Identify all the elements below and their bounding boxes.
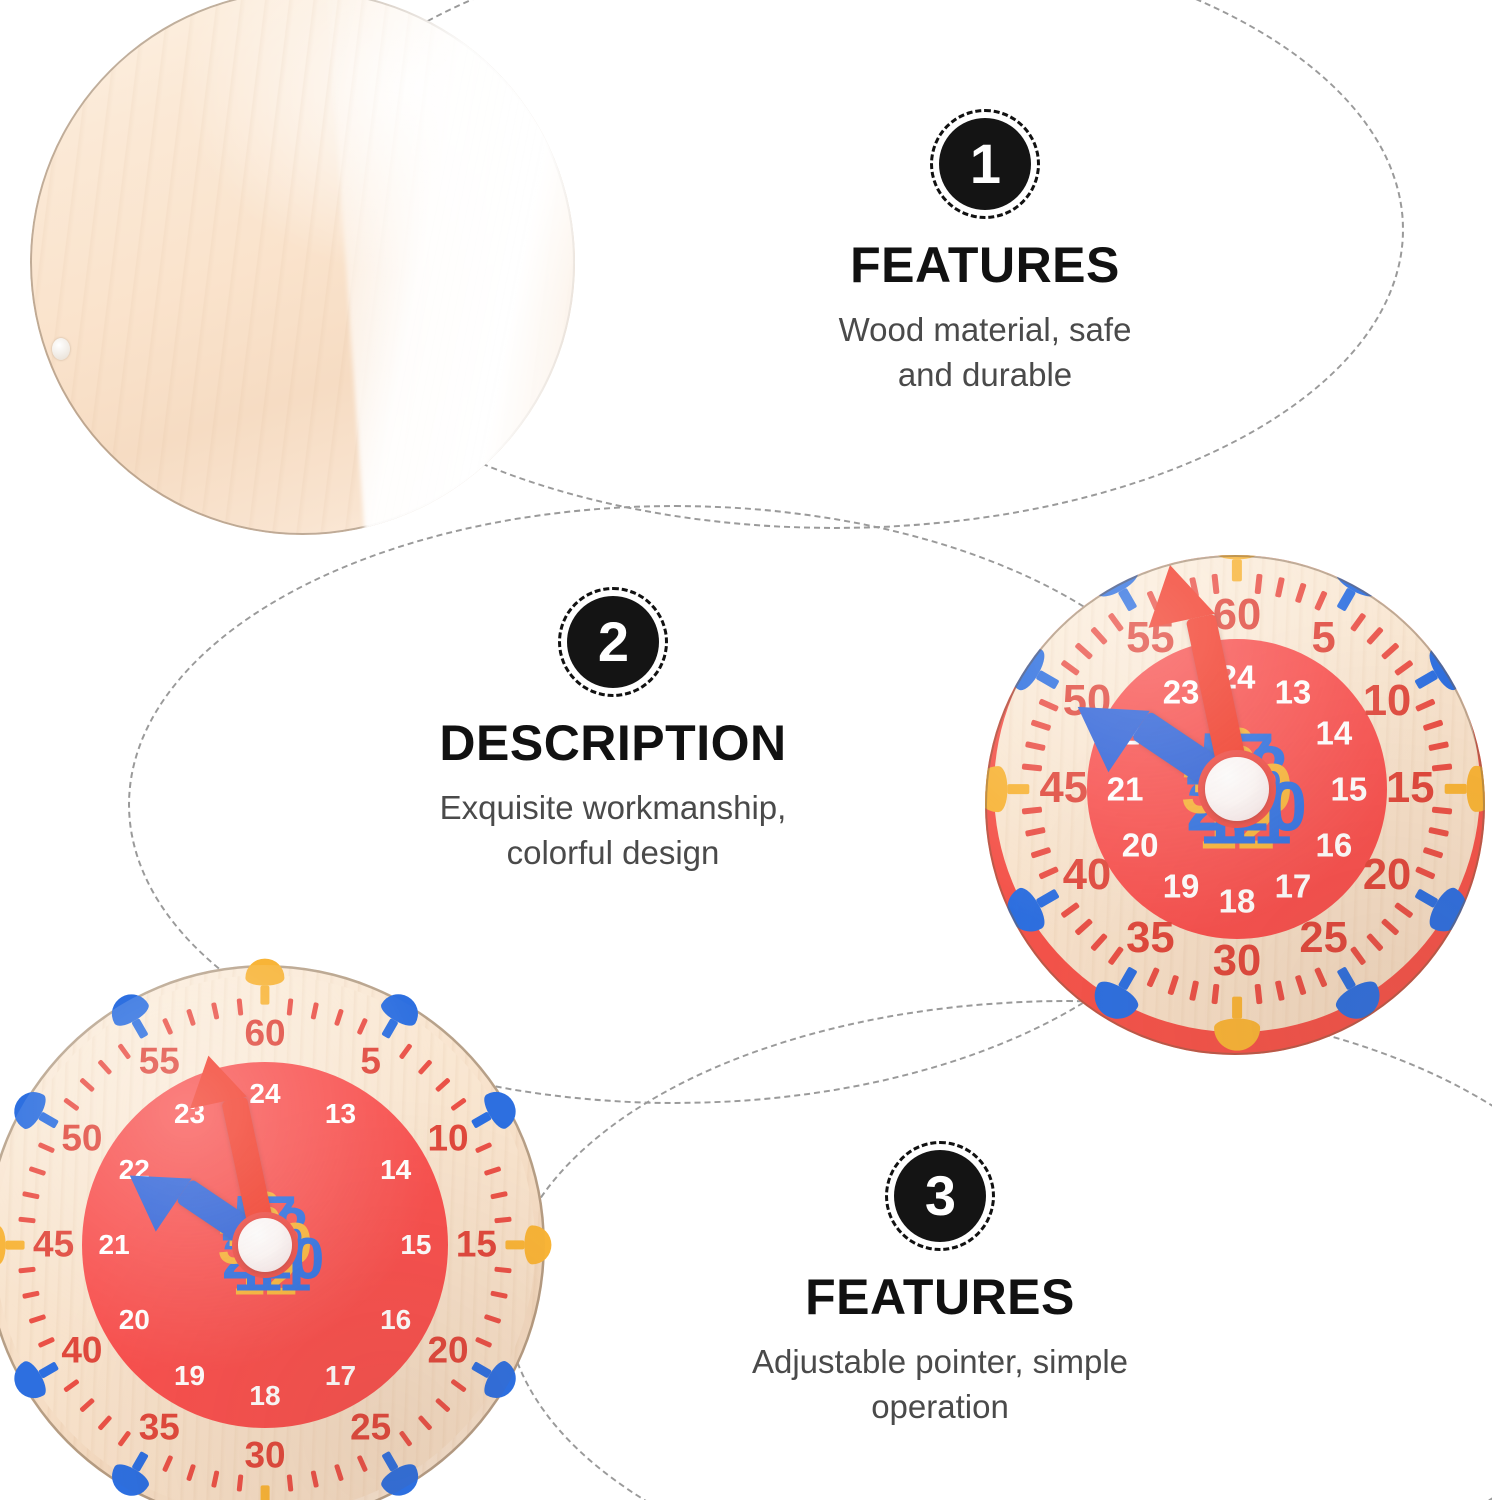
clock-minute-number: 35 [159, 1428, 200, 1465]
clock-inner-hour-number: 23 [190, 1114, 221, 1142]
block-subtitle-1: Wood material, safe and durable [700, 308, 1270, 397]
clock-minute-number: 25 [1324, 939, 1372, 983]
clock-minute-number: 25 [371, 1428, 412, 1465]
product-photo-wood-back-disc [30, 0, 575, 535]
clock-minute-number: 60 [265, 1034, 306, 1071]
clock-minute-number-text: 15 [1386, 767, 1434, 811]
clock-minute-number-text: 55 [139, 1043, 180, 1080]
clock-inner-hour-number: 24 [1237, 677, 1274, 710]
petal-stem [1035, 888, 1060, 908]
clock-minute-number: 20 [448, 1351, 489, 1388]
clock-minute-number: 40 [82, 1351, 123, 1388]
clock-inner-hour-number-text: 15 [400, 1231, 431, 1259]
clock-inner-hour-number: 20 [134, 1320, 165, 1348]
clock-inner-hour-number: 19 [190, 1376, 221, 1404]
clock-minute-number-text: 15 [456, 1227, 497, 1264]
petal-shape [245, 959, 284, 1005]
clock-minute-number: 10 [1387, 702, 1435, 746]
clock-minute-number-text: 50 [61, 1121, 102, 1158]
clock-minute-number-text: 35 [1126, 917, 1174, 961]
clock-inner-hour-number: 24 [265, 1094, 296, 1122]
petal-stem [1007, 784, 1029, 795]
clock-inner-hour-number-text: 18 [249, 1382, 280, 1410]
block-subtitle-2: Exquisite workmanship, colorful design [328, 786, 898, 875]
clock-minute-number: 30 [265, 1456, 306, 1493]
clock-minute-number: 35 [1150, 939, 1198, 983]
clock-inner-hour-number: 16 [1334, 845, 1371, 878]
clock-minute-number-text: 60 [1213, 594, 1261, 638]
petal-stem [1232, 559, 1243, 581]
clock-inner-hour-number-text: 13 [1275, 676, 1312, 709]
step-badge-2: 2 [567, 596, 659, 688]
clock-pivot-knob [238, 1218, 292, 1272]
clock-inner-hour-number: 21 [114, 1245, 145, 1273]
clock-inner-hour-number: 17 [340, 1376, 371, 1404]
feature-block-2: 2 DESCRIPTION Exquisite workmanship, col… [328, 596, 898, 875]
clock-inner-hour-number: 17 [1293, 886, 1330, 919]
clock-hour-number: 11 [280, 1272, 342, 1331]
clock-inner-hour-number: 19 [1181, 886, 1218, 919]
block-title-2: DESCRIPTION [328, 718, 898, 768]
clock-minute-number-text: 5 [360, 1043, 381, 1080]
clock-inner-hour-number: 14 [1334, 733, 1371, 766]
block-subtitle-3-line-1: Adjustable pointer, simple [655, 1340, 1225, 1385]
clock-minute-number: 60 [1237, 616, 1285, 660]
block-subtitle-1-line-2: and durable [700, 353, 1270, 398]
clock-inner-hour-number-text: 19 [174, 1362, 205, 1390]
wood-highlight [324, 0, 575, 535]
clock-minute-number: 45 [54, 1245, 95, 1282]
clock-minute-number-text: 40 [61, 1332, 102, 1369]
clock-inner-hour-number-text: 23 [1163, 676, 1200, 709]
clock-closeup-crop: 1212345678910116051015202530354045505524… [985, 555, 1485, 1055]
clock-closeup-artwork: 1212345678910116051015202530354045505524… [985, 555, 1485, 1055]
badge-disc: 2 [567, 596, 659, 688]
clock-inner-hour-number-text: 15 [1331, 773, 1368, 806]
petal-stem [1117, 587, 1137, 612]
clock-inner-hour-number-text: 24 [249, 1080, 280, 1108]
clock-minute-number-text: 25 [1299, 917, 1347, 961]
clock-minute-number: 5 [371, 1062, 392, 1099]
clock-minute-number-text: 10 [428, 1121, 469, 1158]
clock-inner-hour-number: 13 [340, 1114, 371, 1142]
badge-number-1: 1 [970, 136, 1000, 192]
clock-inner-hour-number-text: 18 [1219, 884, 1256, 917]
clock-pivot-knob [1205, 757, 1268, 820]
clock-minute-number: 15 [476, 1245, 517, 1282]
feature-block-1: 1 FEATURES Wood material, safe and durab… [700, 118, 1270, 397]
clock-inner-hour-number: 16 [396, 1320, 427, 1348]
petal-stem [1035, 669, 1060, 689]
block-title-1: FEATURES [700, 240, 1270, 290]
clock-minute-number-text: 30 [1213, 940, 1261, 984]
clock-minute-number-text: 5 [1312, 617, 1336, 661]
petal-shape [0, 1225, 24, 1264]
block-subtitle-1-line-1: Wood material, safe [700, 308, 1270, 353]
clock-minute-number-text: 25 [350, 1410, 391, 1447]
clock-minute-tick [235, 1466, 242, 1483]
clock-minute-number-text: 45 [33, 1227, 74, 1264]
clock-inner-hour-number-text: 13 [325, 1100, 356, 1128]
clock-inner-hour-number-text: 14 [1316, 717, 1353, 750]
clock-inner-hour-number: 15 [416, 1245, 447, 1273]
clock-inner-hour-number: 15 [1349, 789, 1386, 822]
clock-minute-number: 40 [1087, 876, 1135, 920]
petal-cap [985, 766, 1007, 812]
clock-minute-number: 20 [1387, 876, 1435, 920]
clock-minute-tick [27, 1215, 44, 1222]
clock-inner-hour-number-text: 17 [1275, 869, 1312, 902]
block-subtitle-2-line-1: Exquisite workmanship, [328, 786, 898, 831]
petal-shape [985, 766, 1029, 812]
clock-minute-number: 45 [1064, 789, 1112, 833]
petal-stem [38, 1361, 59, 1378]
step-badge-3: 3 [894, 1150, 986, 1242]
block-subtitle-3-line-2: operation [655, 1385, 1225, 1430]
clock-minute-number-text: 20 [428, 1332, 469, 1369]
clock-minute-number-text: 10 [1363, 681, 1411, 725]
block-subtitle-2-line-2: colorful design [328, 831, 898, 876]
badge-disc: 1 [939, 118, 1031, 210]
clock-inner-hour-number-text: 21 [99, 1231, 130, 1259]
clock-minute-number-text: 35 [139, 1410, 180, 1447]
wood-pivot-nub [52, 338, 70, 360]
block-title-3: FEATURES [655, 1272, 1225, 1322]
petal-stem [1336, 587, 1356, 612]
clock-minute-number: 30 [1237, 962, 1285, 1006]
clock-inner-hour-number-text: 20 [1122, 828, 1159, 861]
clock-minute-number-text: 30 [244, 1438, 285, 1475]
product-photo-clock-face-closeup: 1212345678910116051015202530354045505524… [985, 555, 1485, 1055]
badge-number-3: 3 [925, 1168, 955, 1224]
petal-cap [245, 959, 284, 986]
clock-minute-number-text: 40 [1063, 854, 1111, 898]
petal-stem [131, 1451, 148, 1472]
petal-cap [1467, 766, 1485, 812]
petal-stem [381, 1018, 398, 1039]
clock-minute-number: 15 [1410, 789, 1458, 833]
feature-block-3: 3 FEATURES Adjustable pointer, simple op… [655, 1150, 1225, 1429]
clock-inner-hour-number-text: 20 [119, 1306, 150, 1334]
clock-inner-hour-number: 18 [265, 1396, 296, 1424]
petal-stem [5, 1241, 24, 1250]
badge-number-2: 2 [598, 614, 628, 670]
petal-cap [1214, 1019, 1260, 1051]
petal-stem [471, 1111, 492, 1128]
clock-inner-hour-number-text: 14 [380, 1156, 411, 1184]
clock-inner-hour-number-text: 16 [1316, 828, 1353, 861]
clock-inner-hour-number: 14 [396, 1170, 427, 1198]
step-badge-1: 1 [939, 118, 1031, 210]
clock-minute-number-text: 45 [1040, 767, 1088, 811]
clock-minute-number-text: 60 [244, 1015, 285, 1052]
petal-stem [1414, 669, 1439, 689]
clock-inner-hour-number-text: 16 [380, 1306, 411, 1334]
badge-disc: 3 [894, 1150, 986, 1242]
clock-inner-hour-number-text: 17 [325, 1362, 356, 1390]
clock-minute-number: 10 [448, 1139, 489, 1176]
petal-shape [1214, 555, 1260, 581]
clock-inner-hour-number: 20 [1140, 845, 1177, 878]
block-subtitle-3: Adjustable pointer, simple operation [655, 1340, 1225, 1429]
petal-stem [1117, 966, 1137, 991]
clock-minute-number: 5 [1324, 639, 1348, 683]
clock-inner-hour-number: 21 [1125, 789, 1162, 822]
clock-minute-number: 50 [82, 1139, 123, 1176]
infographic-canvas: 1 FEATURES Wood material, safe and durab… [0, 0, 1492, 1500]
tick-mark [287, 998, 294, 1015]
petal-stem [131, 1018, 148, 1039]
petal-stem [261, 985, 270, 1004]
clock-inner-hour-number: 18 [1237, 901, 1274, 934]
clock-inner-hour-number-text: 21 [1107, 773, 1144, 806]
petal-stem [38, 1111, 59, 1128]
petal-cap [525, 1225, 552, 1264]
